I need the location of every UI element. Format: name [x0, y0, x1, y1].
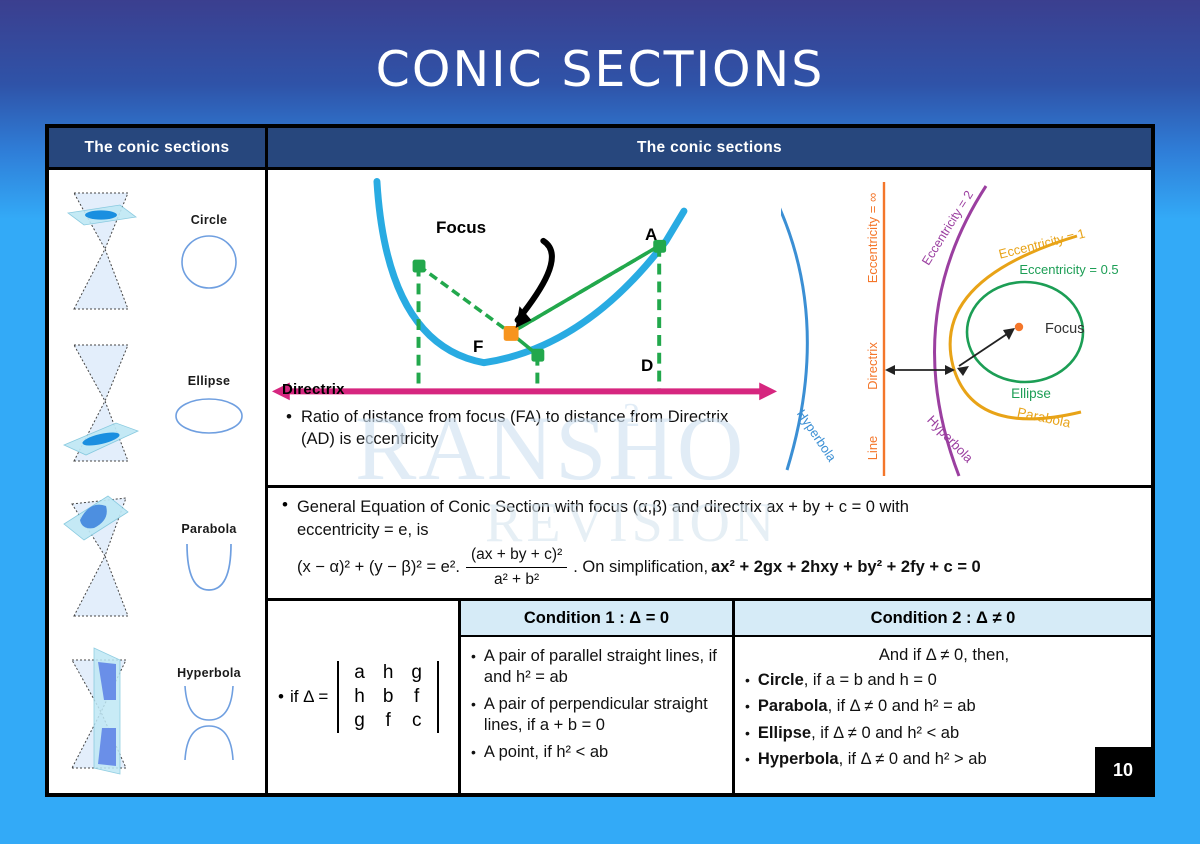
condition-2-list: And if Δ ≠ 0, then, • Circle, if a = b a…	[735, 637, 1151, 793]
matrix-cell: c	[402, 709, 431, 733]
general-equation-body: General Equation of Conic Section with f…	[297, 496, 981, 594]
matrix-cell: h	[345, 685, 374, 709]
fraction-denominator: a² + b²	[489, 568, 544, 591]
condition-2-item-name: Ellipse	[758, 724, 811, 742]
list-item: • A pair of parallel straight lines, if …	[471, 646, 724, 689]
condition-2-item: Parabola, if Δ ≠ 0 and h² = ab	[758, 696, 976, 717]
ratio-text-content: Ratio of distance from focus (FA) to dis…	[301, 407, 756, 451]
bullet-icon: •	[286, 407, 292, 451]
list-item: • A point, if h² < ab	[471, 742, 724, 763]
bullet-icon: •	[745, 723, 750, 744]
hyperbola-meta: Hyperbola	[153, 666, 265, 762]
focus-callout-label: Focus	[436, 218, 486, 238]
header-right-label: The conic sections	[268, 128, 1151, 167]
condition-2-item: Hyperbola, if Δ ≠ 0 and h² > ab	[758, 749, 987, 770]
condition-1-item-text: A point, if h² < ab	[484, 742, 608, 763]
table-header-row: The conic sections The conic sections	[49, 128, 1151, 170]
table-body: Circle Ellipse	[49, 170, 1151, 793]
determinant-expression: • if Δ = a h g h b	[278, 661, 441, 733]
matrix-cell: g	[345, 709, 374, 733]
matrix-cell: g	[402, 661, 431, 685]
eccentricity-ratio-note: • Ratio of distance from focus (FA) to d…	[286, 407, 756, 451]
focus-label-right: Focus	[1045, 321, 1085, 337]
fraction-numerator: (ax + by + c)²	[466, 544, 567, 568]
conic-sections-table: The conic sections The conic sections Ci…	[45, 124, 1155, 797]
list-item: • Ellipse, if Δ ≠ 0 and h² < ab	[745, 723, 1143, 744]
sidebar-item-hyperbola[interactable]: Hyperbola	[49, 637, 265, 791]
condition-1-item-text: A pair of perpendicular straight lines, …	[484, 694, 724, 737]
sidebar-item-circle[interactable]: Circle	[49, 176, 265, 330]
determinant-prefix: if Δ =	[290, 687, 328, 707]
label-ellipse: Ellipse	[1011, 386, 1051, 401]
page-title: CONIC SECTIONS	[0, 44, 1200, 95]
axis-label-eccentricity-infinity: Eccentricity = ∞	[865, 193, 880, 284]
parabola-meta: Parabola	[153, 522, 265, 598]
matrix-cell: f	[374, 709, 403, 733]
bullet-icon: •	[745, 696, 750, 717]
matrix-cell: h	[374, 661, 403, 685]
matrix-cell: f	[402, 685, 431, 709]
sidebar-label-hyperbola: Hyperbola	[177, 666, 241, 680]
cone-parabola-icon	[49, 490, 153, 630]
condition-2-item-name: Parabola	[758, 697, 828, 715]
condition-2-item-rest: , if Δ ≠ 0 and h² = ab	[828, 697, 976, 715]
axis-label-directrix: Directrix	[865, 342, 880, 390]
list-item: • Parabola, if Δ ≠ 0 and h² = ab	[745, 696, 1143, 717]
parabola-shape-icon	[173, 540, 245, 598]
ellipse-meta: Ellipse	[153, 374, 265, 440]
matrix-cell: b	[374, 685, 403, 709]
general-equation-line1: General Equation of Conic Section with f…	[297, 496, 981, 519]
circle-shape-icon	[173, 231, 245, 293]
cone-hyperbola-icon	[49, 644, 153, 784]
condition-2-item: Circle, if a = b and h = 0	[758, 670, 937, 691]
general-equation-line2: eccentricity = e, is	[297, 519, 981, 542]
curve-label-eccentricity-05: Eccentricity = 0.5	[1019, 262, 1118, 277]
bullet-icon: •	[745, 749, 750, 770]
equation-simplified: ax² + 2gx + 2hxy + by² + 2fy + c = 0	[711, 556, 981, 579]
general-equation-formula: (x − α)² + (y − β)² = e². (ax + by + c)²…	[297, 544, 981, 591]
eccentricity-families-diagram: Eccentricity = ∞ Directrix Line Eccentri…	[781, 170, 1151, 485]
condition-1-title: Condition 1 : Δ = 0	[461, 601, 732, 637]
equation-tail: . On simplification,	[573, 556, 708, 579]
content-column: Focus A F D Directrix • Ratio of distanc…	[268, 170, 1151, 793]
condition-2-item: Ellipse, if Δ ≠ 0 and h² < ab	[758, 723, 959, 744]
conic-sidebar: Circle Ellipse	[49, 170, 268, 793]
page-number-badge: 10	[1095, 747, 1151, 793]
sidebar-label-parabola: Parabola	[181, 522, 236, 536]
bullet-icon: •	[282, 496, 288, 594]
label-hyperbola-purple: Hyperbola	[924, 412, 976, 466]
label-parabola: Parabola	[1016, 405, 1072, 431]
directrix-label: Directrix	[282, 381, 345, 398]
header-left-label: The conic sections	[49, 128, 268, 167]
diagram-row: Focus A F D Directrix • Ratio of distanc…	[268, 170, 1151, 488]
sidebar-label-circle: Circle	[191, 213, 228, 227]
point-a-label: A	[645, 225, 657, 245]
circle-meta: Circle	[153, 213, 265, 293]
eccentricity-diagram-svg: Eccentricity = ∞ Directrix Line Eccentri…	[781, 170, 1151, 488]
sidebar-label-ellipse: Ellipse	[188, 374, 230, 388]
sidebar-item-ellipse[interactable]: Ellipse	[49, 330, 265, 484]
condition-2-title: Condition 2 : Δ ≠ 0	[735, 601, 1151, 637]
point-d-label: D	[641, 356, 653, 376]
point-f-label: F	[473, 337, 483, 357]
equation-fraction: (ax + by + c)² a² + b²	[466, 544, 567, 591]
conditions-row: • if Δ = a h g h b	[268, 601, 1151, 793]
condition-2-item-rest: , if a = b and h = 0	[804, 671, 937, 689]
determinant-matrix: a h g h b f g	[335, 661, 441, 733]
parabola-focus-directrix-diagram: Focus A F D Directrix • Ratio of distanc…	[268, 170, 781, 485]
axis-label-line: Line	[865, 436, 880, 461]
bullet-icon: •	[278, 687, 284, 707]
bullet-icon: •	[471, 646, 476, 689]
label-hyperbola-blue: Hyperbola	[794, 407, 840, 465]
bullet-icon: •	[471, 742, 476, 763]
list-item: • Hyperbola, if Δ ≠ 0 and h² > ab	[745, 749, 1143, 770]
list-item: • Circle, if a = b and h = 0	[745, 670, 1143, 691]
sidebar-item-parabola[interactable]: Parabola	[49, 484, 265, 638]
cone-circle-icon	[49, 183, 153, 323]
determinant-cell: • if Δ = a h g h b	[268, 601, 461, 793]
condition-2-item-rest: , if Δ ≠ 0 and h² < ab	[811, 724, 959, 742]
condition-2-item-rest: , if Δ ≠ 0 and h² > ab	[839, 750, 987, 768]
general-equation-block: • General Equation of Conic Section with…	[268, 488, 1151, 601]
hyperbola-shape-icon	[171, 684, 247, 762]
condition-1-list: • A pair of parallel straight lines, if …	[461, 637, 732, 793]
condition-2-column: Condition 2 : Δ ≠ 0 And if Δ ≠ 0, then, …	[735, 601, 1151, 793]
condition-1-column: Condition 1 : Δ = 0 • A pair of parallel…	[461, 601, 735, 793]
cone-ellipse-icon	[49, 337, 153, 477]
curve-label-eccentricity-2: Eccentricity = 2	[919, 188, 976, 268]
list-item: • A pair of perpendicular straight lines…	[471, 694, 724, 737]
condition-2-item-name: Hyperbola	[758, 750, 839, 768]
equation-lhs: (x − α)² + (y − β)² = e².	[297, 556, 460, 579]
curve-label-eccentricity-1: Eccentricity = 1	[997, 226, 1087, 262]
bullet-icon: •	[745, 670, 750, 691]
condition-2-intro: And if Δ ≠ 0, then,	[745, 646, 1143, 665]
matrix-cell: a	[345, 661, 374, 685]
condition-1-item-text: A pair of parallel straight lines, if an…	[484, 646, 724, 689]
bullet-icon: •	[471, 694, 476, 737]
ellipse-shape-icon	[170, 392, 248, 440]
condition-2-item-name: Circle	[758, 671, 804, 689]
